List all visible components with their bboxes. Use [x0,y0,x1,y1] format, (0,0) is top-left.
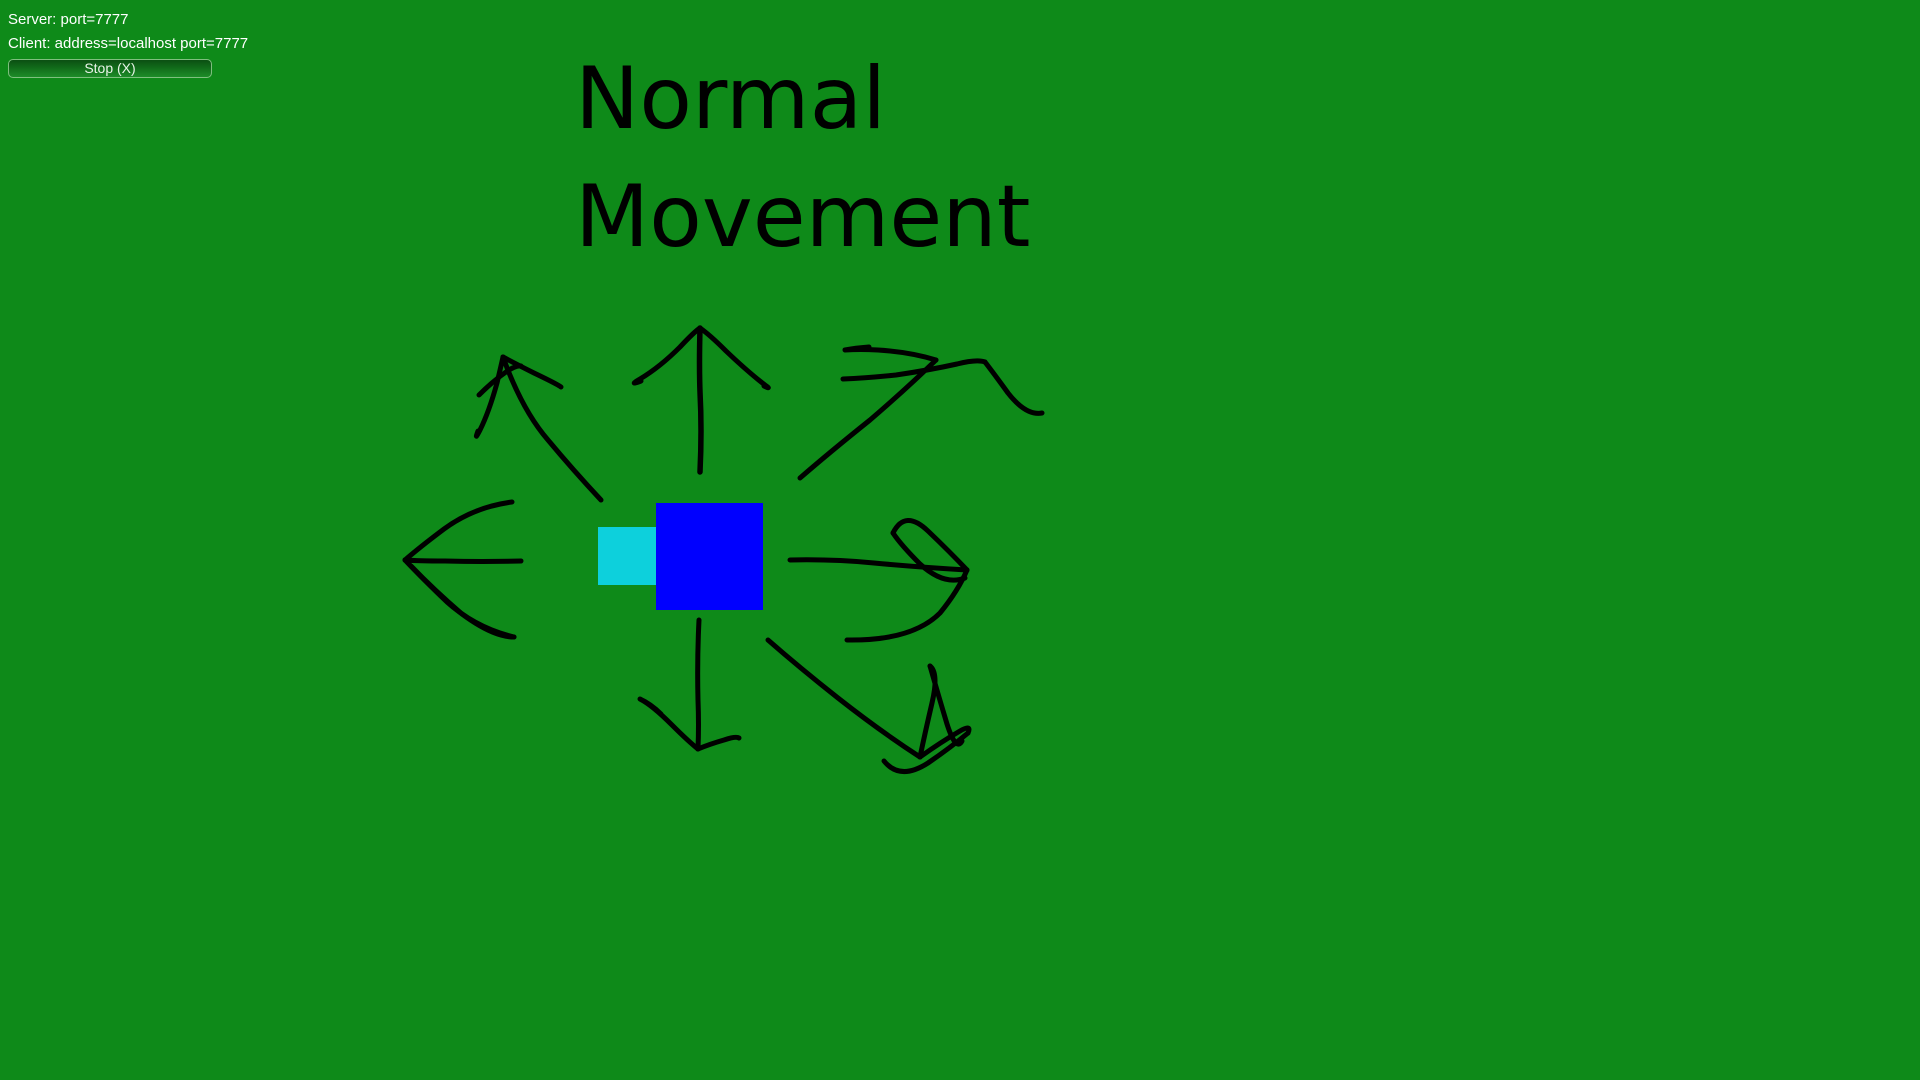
server-status-label: Server: port=7777 [8,8,420,32]
arrow-up-icon [634,328,768,472]
page-title: Normal Movement [575,40,1045,276]
arrow-up-right-icon [800,347,1042,478]
page-title-line-2: Movement [575,158,1045,276]
arrow-down-icon [640,620,739,749]
arrow-right-icon [790,520,967,640]
arrow-up-left-icon [476,357,601,500]
arrow-left-icon [405,502,521,637]
stop-button[interactable]: Stop (X) [8,59,212,78]
local-player-square [656,503,763,610]
page-title-line-1: Normal [575,40,1045,158]
game-viewport: Normal Movement Server: port=7777 Client… [0,0,1920,1080]
network-hud: Server: port=7777 Client: address=localh… [0,0,420,78]
client-status-label: Client: address=localhost port=7777 [8,32,420,56]
arrow-down-right-icon [768,640,969,772]
remote-player-square [598,527,656,585]
